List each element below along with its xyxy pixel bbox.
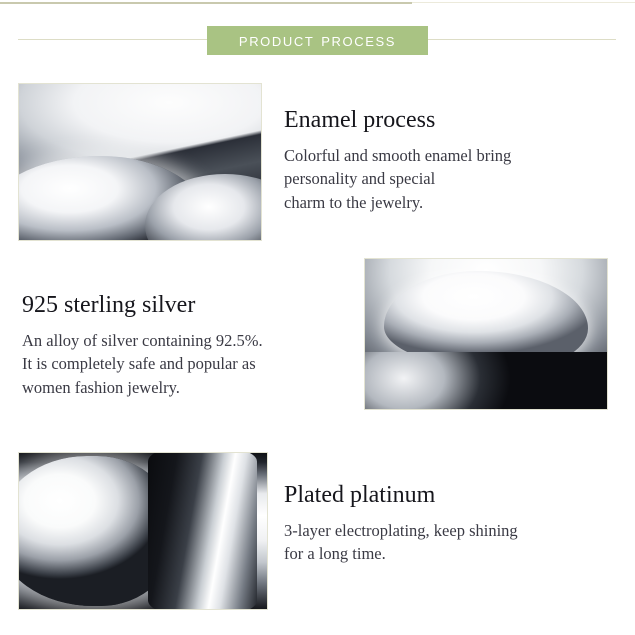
header-banner: Product process: [207, 26, 428, 55]
section-title-plated-platinum: Plated platinum: [284, 482, 435, 510]
section-image-enamel-process-inner: [19, 84, 261, 240]
section-body-line: charm to the jewelry.: [284, 191, 511, 214]
jewelry-macro-photo-2: [365, 259, 607, 409]
top-divider-strong: [0, 2, 412, 4]
product-process-page: Product process Enamel process Colorful …: [0, 0, 635, 635]
section-body-line: It is completely safe and popular as: [22, 352, 263, 375]
header-divider-left: [18, 39, 210, 40]
jewelry-macro-photo-1: [19, 84, 261, 240]
section-body-line: An alloy of silver containing 92.5%.: [22, 329, 263, 352]
section-body-sterling-silver: An alloy of silver containing 92.5%. It …: [22, 329, 263, 399]
section-body-line: for a long time.: [284, 542, 518, 565]
section-image-enamel-process: [18, 83, 262, 241]
section-title-sterling-silver: 925 sterling silver: [22, 292, 195, 320]
section-body-enamel-process: Colorful and smooth enamel bring persona…: [284, 144, 511, 214]
jewelry-macro-photo-3: [19, 453, 267, 609]
header-banner-label: Product process: [239, 31, 396, 51]
section-image-plated-platinum-inner: [19, 453, 267, 609]
section-body-line: 3-layer electroplating, keep shining: [284, 519, 518, 542]
section-body-line: personality and special: [284, 167, 511, 190]
section-body-line: Colorful and smooth enamel bring: [284, 144, 511, 167]
section-image-plated-platinum: [18, 452, 268, 610]
header-divider-right: [428, 39, 616, 40]
section-header: Product process: [0, 26, 635, 56]
section-image-sterling-silver-inner: [365, 259, 607, 409]
section-image-sterling-silver: [364, 258, 608, 410]
top-divider-faint: [412, 2, 635, 3]
section-body-plated-platinum: 3-layer electroplating, keep shining for…: [284, 519, 518, 566]
section-body-line: women fashion jewelry.: [22, 376, 263, 399]
section-title-enamel-process: Enamel process: [284, 107, 435, 135]
